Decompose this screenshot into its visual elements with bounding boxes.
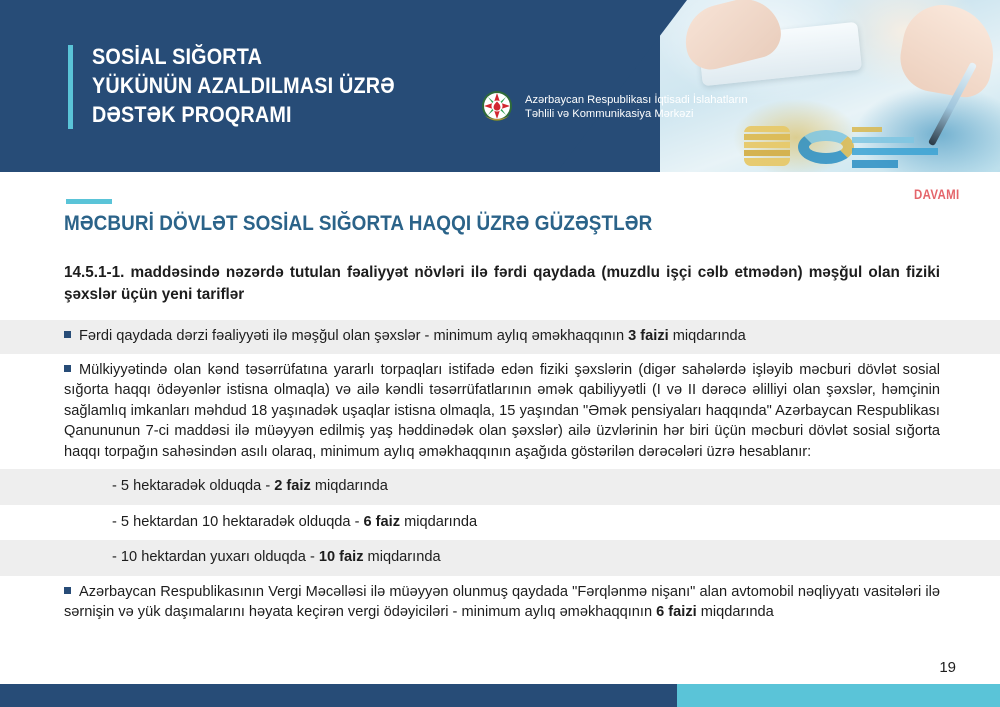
- provision-rate-value: 10 faiz: [319, 549, 364, 565]
- organization-name-line-2: Təhlili və Kommunikasiya Mərkəzi: [525, 107, 748, 122]
- bullet-square-icon: [64, 587, 71, 594]
- provision-sub-item: - 5 hektardan 10 hektaradək olduqda - 6 …: [0, 505, 1000, 541]
- page-footer: [0, 684, 1000, 707]
- program-title-line-1: SOSİAL SIĞORTA: [92, 42, 462, 71]
- provision-rate-value: 2 faiz: [274, 478, 311, 494]
- continuation-label: DAVAMI: [914, 186, 960, 202]
- provisions-list: Fərdi qaydada dərzi fəaliyyəti ilə məşğu…: [0, 320, 1000, 630]
- provision-text-run: miqdarında: [669, 328, 746, 344]
- program-title-line-3: DƏSTƏK PROQRAMI: [92, 100, 462, 129]
- provision-text: Azərbaycan Respublikasının Vergi Məcəllə…: [64, 584, 940, 621]
- program-title: SOSİAL SIĞORTA YÜKÜNÜN AZALDILMASI ÜZRƏ …: [92, 42, 462, 129]
- footer-bar-right: [677, 684, 1000, 707]
- bullet-square-icon: [64, 331, 71, 338]
- provision-text: Fərdi qaydada dərzi fəaliyyəti ilə məşğu…: [79, 328, 746, 344]
- provision-text: - 5 hektaradək olduqda - 2 faiz miqdarın…: [112, 478, 388, 494]
- organization-name: Azərbaycan Respublikası İqtisadi İslahat…: [525, 93, 748, 122]
- bullet-square-icon: [64, 365, 71, 372]
- slide-content: DAVAMI MƏCBURİ DÖVLƏT SOSİAL SIĞORTA HAQ…: [0, 172, 1000, 684]
- provision-text-run: Azərbaycan Respublikasının Vergi Məcəllə…: [64, 584, 940, 621]
- provision-text: - 10 hektardan yuxarı olduqda - 10 faiz …: [112, 549, 441, 565]
- provision-text-run: - 10 hektardan yuxarı olduqda -: [112, 549, 319, 565]
- page-header: SOSİAL SIĞORTA YÜKÜNÜN AZALDILMASI ÜZRƏ …: [0, 0, 1000, 172]
- provision-text-run: Fərdi qaydada dərzi fəaliyyəti ilə məşğu…: [79, 328, 628, 344]
- provision-sub-item: - 10 hektardan yuxarı olduqda - 10 faiz …: [0, 540, 1000, 576]
- header-photo: [660, 0, 1000, 172]
- provision-text-run: - 5 hektaradək olduqda -: [112, 478, 274, 494]
- provision-rate-value: 3 faizi: [628, 328, 669, 344]
- organization-name-line-1: Azərbaycan Respublikası İqtisadi İslahat…: [525, 93, 748, 108]
- provision-text-run: miqdarında: [400, 514, 477, 530]
- provision-rate-value: 6 faizi: [656, 604, 697, 620]
- provision-item: Azərbaycan Respublikasının Vergi Məcəllə…: [0, 576, 1000, 630]
- provision-text-run: Mülkiyyətində olan kənd təsərrüfatına ya…: [64, 362, 940, 460]
- hand-right-shape: [895, 0, 1000, 101]
- section-subtitle: 14.5.1-1. maddəsində nəzərdə tutulan fəa…: [64, 262, 940, 306]
- coins-shape: [744, 126, 790, 166]
- provision-sub-item: - 5 hektaradək olduqda - 2 faiz miqdarın…: [0, 469, 1000, 505]
- page-number: 19: [939, 659, 956, 676]
- provision-text: Mülkiyyətində olan kənd təsərrüfatına ya…: [64, 362, 940, 460]
- page-title: MƏCBURİ DÖVLƏT SOSİAL SIĞORTA HAQQI ÜZRƏ…: [64, 212, 652, 236]
- header-accent-bar: [68, 45, 73, 129]
- section-title-rule: [66, 199, 112, 204]
- donut-chart-shape: [798, 130, 854, 164]
- provision-item: Mülkiyyətində olan kənd təsərrüfatına ya…: [0, 354, 1000, 470]
- provision-rate-value: 6 faiz: [364, 514, 401, 530]
- program-title-line-2: YÜKÜNÜN AZALDILMASI ÜZRƏ: [92, 71, 462, 100]
- footer-bar-left: [0, 684, 677, 707]
- provision-text-run: - 5 hektardan 10 hektaradək olduqda -: [112, 514, 364, 530]
- provision-text: - 5 hektardan 10 hektaradək olduqda - 6 …: [112, 514, 477, 530]
- provision-text-run: miqdarında: [364, 549, 441, 565]
- provision-text-run: miqdarında: [697, 604, 774, 620]
- organization-block: Azərbaycan Respublikası İqtisadi İslahat…: [478, 88, 748, 126]
- azerbaijan-state-emblem-icon: [478, 88, 516, 126]
- bar-chart-shape: [852, 122, 972, 168]
- provision-text-run: miqdarında: [311, 478, 388, 494]
- provision-item: Fərdi qaydada dərzi fəaliyyəti ilə məşğu…: [0, 320, 1000, 354]
